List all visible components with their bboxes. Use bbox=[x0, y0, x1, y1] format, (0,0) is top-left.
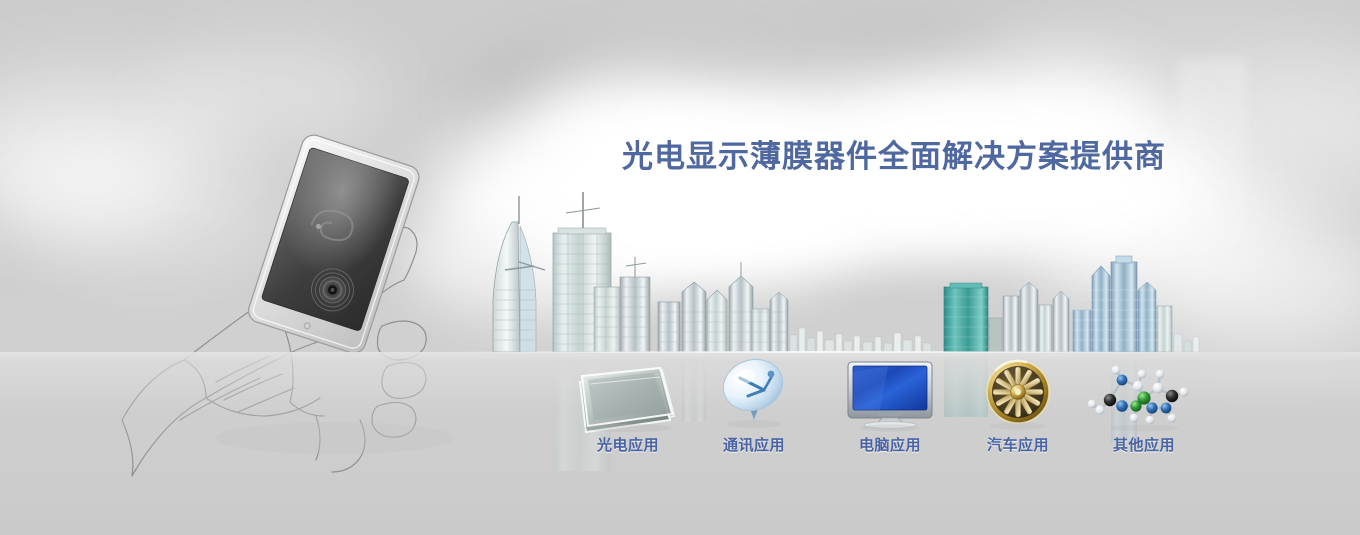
application-label: 电脑应用 bbox=[826, 434, 954, 455]
application-item-automotive[interactable]: 汽车应用 bbox=[954, 358, 1082, 466]
smartphone bbox=[245, 132, 422, 356]
application-label: 光电应用 bbox=[564, 434, 692, 455]
silver-tower-cluster bbox=[658, 262, 788, 352]
distant-low-city bbox=[790, 328, 931, 352]
application-item-communication[interactable]: 通讯应用 bbox=[690, 358, 818, 466]
horizon-line bbox=[440, 351, 1200, 353]
car-wheel-icon bbox=[954, 358, 1082, 432]
far-right-blocks bbox=[1174, 334, 1199, 352]
application-item-optoelectronic[interactable]: 光电应用 bbox=[564, 358, 692, 466]
satellite-dish-icon bbox=[690, 358, 818, 432]
promo-banner: 光电显示薄膜器件全面解决方案提供商 bbox=[0, 0, 1360, 535]
page-title: 光电显示薄膜器件全面解决方案提供商 bbox=[622, 140, 1166, 174]
application-label: 汽车应用 bbox=[954, 434, 1082, 455]
application-list: 光电应用 bbox=[560, 358, 1200, 468]
blue-glass-towers bbox=[1073, 256, 1172, 352]
sail-tower bbox=[493, 196, 545, 352]
teal-towers bbox=[944, 282, 1069, 352]
computer-monitor-icon bbox=[826, 358, 954, 432]
glass-panels-icon bbox=[564, 358, 692, 432]
application-item-other[interactable]: 其他应用 bbox=[1080, 358, 1208, 466]
application-label: 其他应用 bbox=[1080, 434, 1208, 455]
molecule-icon bbox=[1080, 358, 1208, 432]
application-item-computer[interactable]: 电脑应用 bbox=[826, 358, 954, 466]
application-label: 通讯应用 bbox=[690, 434, 818, 455]
